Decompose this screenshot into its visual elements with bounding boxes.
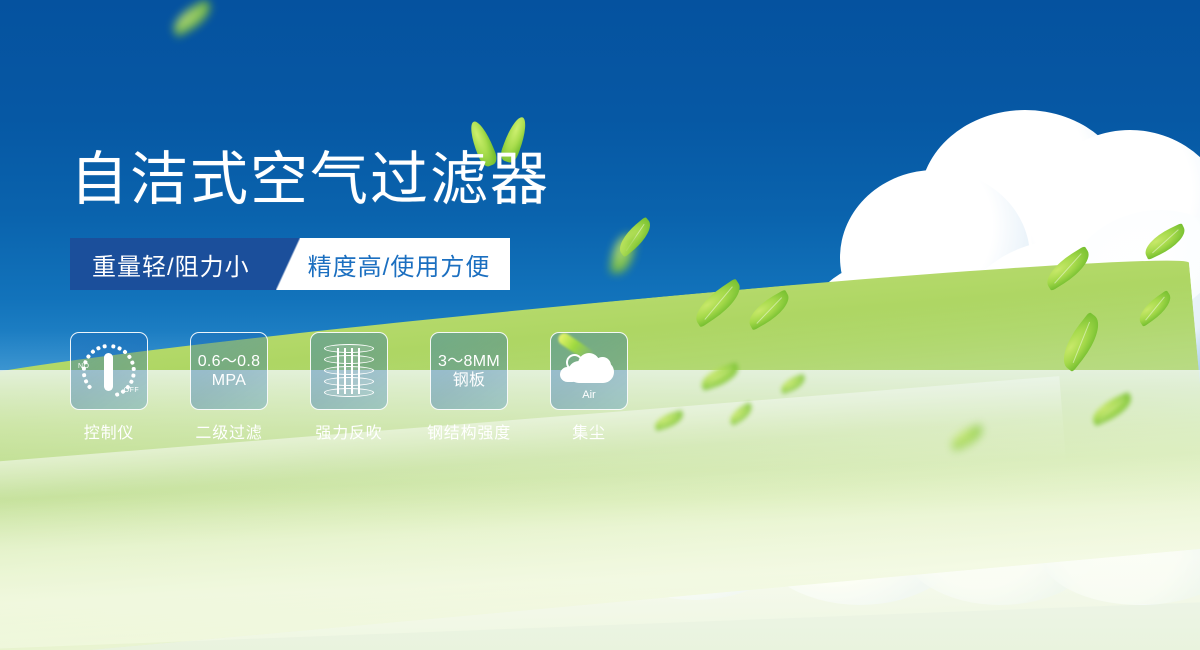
feature-item-dust[interactable]: Air 集尘	[550, 332, 628, 443]
icon-text-line1: 3～8MM	[438, 352, 500, 371]
gauge-graphic: NO OFF	[78, 341, 140, 401]
gauge-label-off: OFF	[124, 387, 139, 394]
feature-label: 控制仪	[84, 419, 134, 443]
leaf-decor	[613, 217, 657, 258]
pressure-text-icon: 0.6～0.8 MPA	[190, 332, 268, 410]
air-label: Air	[558, 389, 620, 401]
icon-text-line2: MPA	[212, 371, 246, 390]
feature-label: 钢结构强度	[427, 419, 511, 443]
feature-item-steel[interactable]: 3～8MM 钢板 钢结构强度	[430, 332, 508, 443]
leaf-decor	[610, 233, 636, 275]
product-banner: 自洁式空气过滤器 重量轻/阻力小 精度高/使用方便	[0, 0, 1200, 650]
subtitle-divider	[276, 238, 300, 290]
filter-cartridge-icon	[310, 332, 388, 410]
cartridge-graphic	[324, 344, 374, 398]
feature-label: 二级过滤	[195, 419, 262, 443]
subtitle-bar: 重量轻/阻力小 精度高/使用方便	[70, 238, 510, 290]
feature-item-filtration[interactable]: 0.6～0.8 MPA 二级过滤	[190, 332, 268, 443]
feature-item-control[interactable]: NO OFF 控制仪	[70, 332, 148, 443]
grass-field	[0, 249, 1200, 650]
icon-text-line1: 0.6～0.8	[198, 352, 261, 371]
leaf-decor	[168, 0, 216, 37]
page-title: 自洁式空气过滤器	[70, 145, 550, 215]
air-cloud-icon: Air	[550, 332, 628, 410]
feature-label: 集尘	[572, 419, 606, 443]
feature-list: NO OFF 控制仪 0.6～0.8 MPA 二级过滤	[70, 332, 628, 443]
icon-text-line2: 钢板	[453, 371, 486, 390]
gauge-icon: NO OFF	[70, 332, 148, 410]
leaf-decor	[1140, 223, 1190, 260]
steel-plate-text-icon: 3～8MM 钢板	[430, 332, 508, 410]
gauge-label-no: NO	[78, 363, 89, 370]
subtitle-left: 重量轻/阻力小	[70, 238, 276, 290]
feature-label: 强力反吹	[315, 419, 382, 443]
subtitle-right: 精度高/使用方便	[300, 238, 511, 290]
feature-item-blowback[interactable]: 强力反吹	[310, 332, 388, 443]
cloud-graphic: Air	[558, 345, 620, 397]
